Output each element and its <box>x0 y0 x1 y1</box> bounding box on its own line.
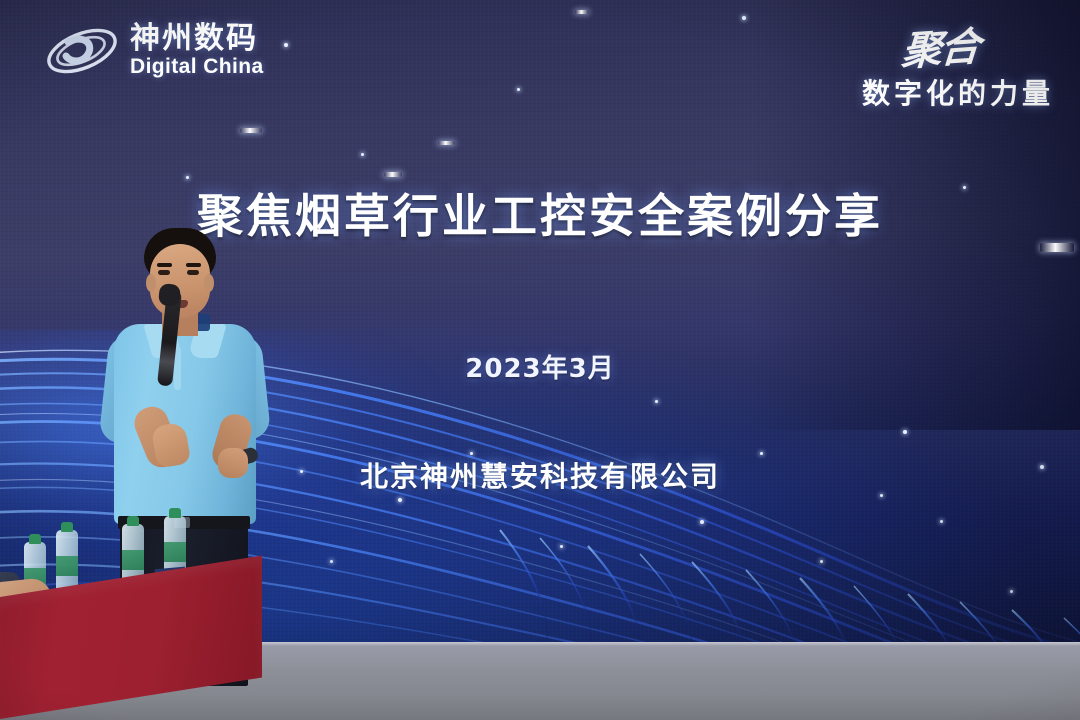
speaker-brow-right <box>186 263 201 267</box>
water-bottle <box>56 530 78 592</box>
speaker-hand-right <box>218 448 248 478</box>
speaker-ear-left <box>146 274 156 292</box>
speaker-eye-left <box>158 270 170 275</box>
speaker-brow-left <box>157 263 172 267</box>
bottle-label <box>56 556 78 576</box>
panel-table <box>0 570 264 720</box>
conference-stage-photo: 神州数码 Digital China 聚合 数字化的力量 聚焦烟草行业工控安全案… <box>0 0 1080 720</box>
speaker-ear-right <box>204 274 214 292</box>
speaker-eye-right <box>187 270 199 275</box>
bottle-label <box>164 542 186 562</box>
bottle-label <box>122 550 144 570</box>
